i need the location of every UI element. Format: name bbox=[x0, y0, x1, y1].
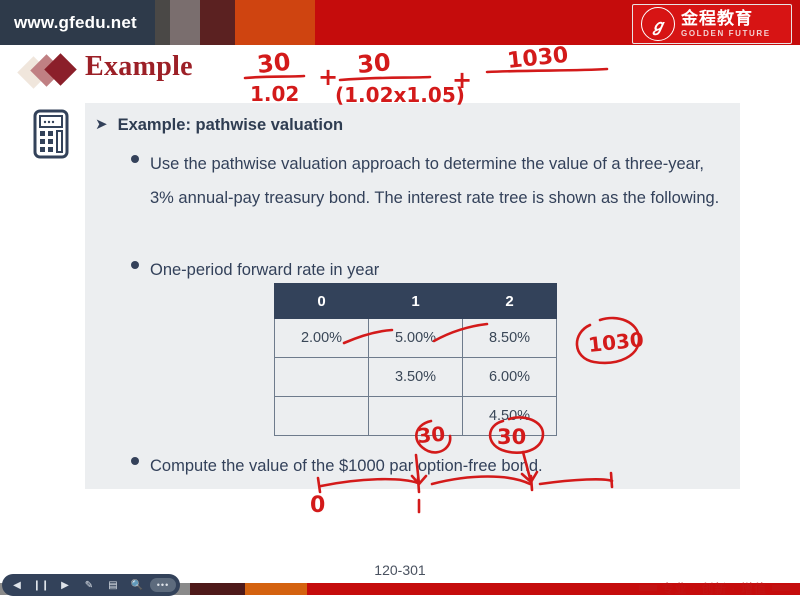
zoom-tool-icon[interactable]: 🔍 bbox=[126, 574, 148, 596]
table-cell: 6.00% bbox=[463, 358, 557, 397]
slide-grid-icon[interactable]: ▤ bbox=[102, 574, 124, 596]
table-row: 4.50% bbox=[275, 397, 557, 436]
page-title: Example bbox=[85, 51, 193, 83]
logo-chinese-name: 金程教育 bbox=[681, 10, 771, 27]
site-url-block: www.gfedu.net bbox=[0, 0, 155, 45]
table-cell: 4.50% bbox=[463, 397, 557, 436]
color-segment-darkgray bbox=[155, 0, 170, 45]
footer-slogan: 专业 · 创新 · 增值 bbox=[639, 578, 790, 598]
table-cell bbox=[275, 397, 369, 436]
logo-english-name: GOLDEN FUTURE bbox=[681, 30, 771, 38]
bottom-segment-orange bbox=[245, 583, 307, 595]
bullet-text-2: One-period forward rate in year bbox=[150, 253, 379, 287]
color-segment-maroon bbox=[200, 0, 235, 45]
logo-text-block: 金程教育 GOLDEN FUTURE bbox=[681, 10, 771, 38]
diamond-decoration-icon bbox=[22, 56, 88, 88]
slide-title-row: Example bbox=[0, 48, 800, 96]
forward-rate-table: 0 1 2 2.00% 5.00% 8.50% 3.50% 6.00% bbox=[274, 283, 557, 436]
panel-heading: Example: pathwise valuation bbox=[118, 115, 344, 135]
calculator-icon bbox=[30, 108, 72, 160]
table-header-cell: 2 bbox=[463, 284, 557, 319]
table-cell: 2.00% bbox=[275, 319, 369, 358]
content-panel: ➤ Example: pathwise valuation Use the pa… bbox=[85, 103, 740, 489]
slogan-text: 专业 · 创新 · 增值 bbox=[662, 580, 767, 597]
bullet-dot-icon bbox=[131, 155, 139, 163]
bullet-text-1: Use the pathwise valuation approach to d… bbox=[150, 147, 731, 215]
prev-slide-icon[interactable]: ◀ bbox=[6, 574, 28, 596]
bullet-dot-icon bbox=[131, 261, 139, 269]
table-header-row: 0 1 2 bbox=[275, 284, 557, 319]
bottom-segment-maroon bbox=[190, 583, 245, 595]
table-cell: 3.50% bbox=[369, 358, 463, 397]
slogan-bar-right-icon bbox=[772, 585, 790, 591]
bullet-dot-icon bbox=[131, 457, 139, 465]
table-cell: 5.00% bbox=[369, 319, 463, 358]
table-row: 3.50% 6.00% bbox=[275, 358, 557, 397]
bullet-item-2: One-period forward rate in year bbox=[131, 253, 379, 287]
arrow-marker-icon: ➤ bbox=[95, 115, 108, 135]
table-cell: 8.50% bbox=[463, 319, 557, 358]
player-toolbar[interactable]: ◀ ❙❙ ▶ ✎ ▤ 🔍 ••• bbox=[2, 574, 180, 596]
slide-canvas: www.gfedu.net ℊ 金程教育 GOLDEN FUTURE Examp… bbox=[0, 0, 800, 600]
brand-logo: ℊ 金程教育 GOLDEN FUTURE bbox=[632, 4, 792, 44]
hw-timeline-0: 0 bbox=[310, 493, 325, 518]
logo-seal-icon: ℊ bbox=[641, 7, 675, 41]
table-header-cell: 1 bbox=[369, 284, 463, 319]
table-header-cell: 0 bbox=[275, 284, 369, 319]
table-row: 2.00% 5.00% 8.50% bbox=[275, 319, 557, 358]
next-slide-icon[interactable]: ▶ bbox=[54, 574, 76, 596]
panel-heading-row: ➤ Example: pathwise valuation bbox=[95, 115, 343, 135]
color-segment-orange bbox=[235, 0, 315, 45]
more-options-icon[interactable]: ••• bbox=[150, 578, 176, 592]
play-pause-icon[interactable]: ❙❙ bbox=[30, 574, 52, 596]
bullet-item-1: Use the pathwise valuation approach to d… bbox=[131, 147, 731, 215]
table-cell bbox=[275, 358, 369, 397]
pen-tool-icon[interactable]: ✎ bbox=[78, 574, 100, 596]
color-segment-gray bbox=[170, 0, 200, 45]
site-url-text: www.gfedu.net bbox=[0, 13, 137, 33]
table-cell bbox=[369, 397, 463, 436]
bullet-item-3: Compute the value of the $1000 par optio… bbox=[131, 449, 543, 483]
slogan-bar-left-icon bbox=[639, 585, 657, 591]
bullet-text-3: Compute the value of the $1000 par optio… bbox=[150, 449, 543, 483]
